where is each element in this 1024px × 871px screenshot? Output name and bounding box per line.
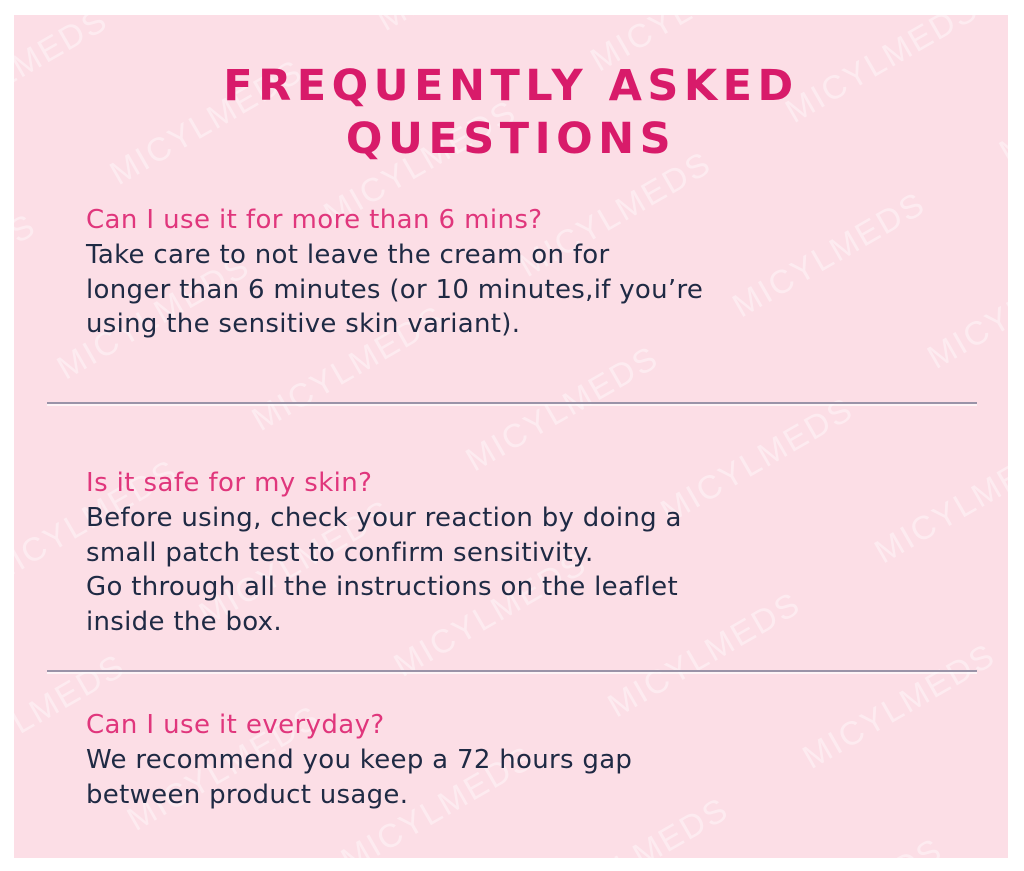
faq-screenshot-canvas: MICYLMEDSMICYLMEDSMICYLMEDSMICYLMEDSMICY… [0, 0, 1024, 871]
faq-answer-3: We recommend you keep a 72 hours gapbetw… [86, 743, 996, 812]
page-title: FREQUENTLY ASKED QUESTIONS [14, 60, 1008, 166]
faq-content: FREQUENTLY ASKED QUESTIONS Can I use it … [14, 15, 1008, 858]
page-title-line-1: FREQUENTLY ASKED [223, 61, 798, 111]
page-title-line-2: QUESTIONS [346, 114, 676, 164]
faq-answer-line: Take care to not leave the cream on for [86, 238, 996, 273]
faq-panel: MICYLMEDSMICYLMEDSMICYLMEDSMICYLMEDSMICY… [14, 15, 1008, 858]
faq-answer-line: small patch test to confirm sensitivity. [86, 536, 996, 571]
faq-answer-line: using the sensitive skin variant). [86, 307, 996, 342]
faq-answer-line: inside the box. [86, 605, 996, 640]
faq-question-1: Can I use it for more than 6 mins? [86, 203, 996, 238]
faq-divider-1 [47, 402, 977, 404]
faq-divider-2 [47, 670, 977, 672]
faq-answer-line: Before using, check your reaction by doi… [86, 501, 996, 536]
faq-answer-line: Go through all the instructions on the l… [86, 570, 996, 605]
faq-question-3: Can I use it everyday? [86, 708, 996, 743]
faq-answer-line: between product usage. [86, 778, 996, 813]
faq-answer-line: We recommend you keep a 72 hours gap [86, 743, 996, 778]
faq-answer-1: Take care to not leave the cream on forl… [86, 238, 996, 342]
faq-item-2: Is it safe for my skin? Before using, ch… [86, 466, 996, 639]
faq-question-2: Is it safe for my skin? [86, 466, 996, 501]
faq-item-1: Can I use it for more than 6 mins? Take … [86, 203, 996, 342]
faq-answer-line: longer than 6 minutes (or 10 minutes,if … [86, 273, 996, 308]
faq-answer-2: Before using, check your reaction by doi… [86, 501, 996, 639]
faq-item-3: Can I use it everyday? We recommend you … [86, 708, 996, 812]
